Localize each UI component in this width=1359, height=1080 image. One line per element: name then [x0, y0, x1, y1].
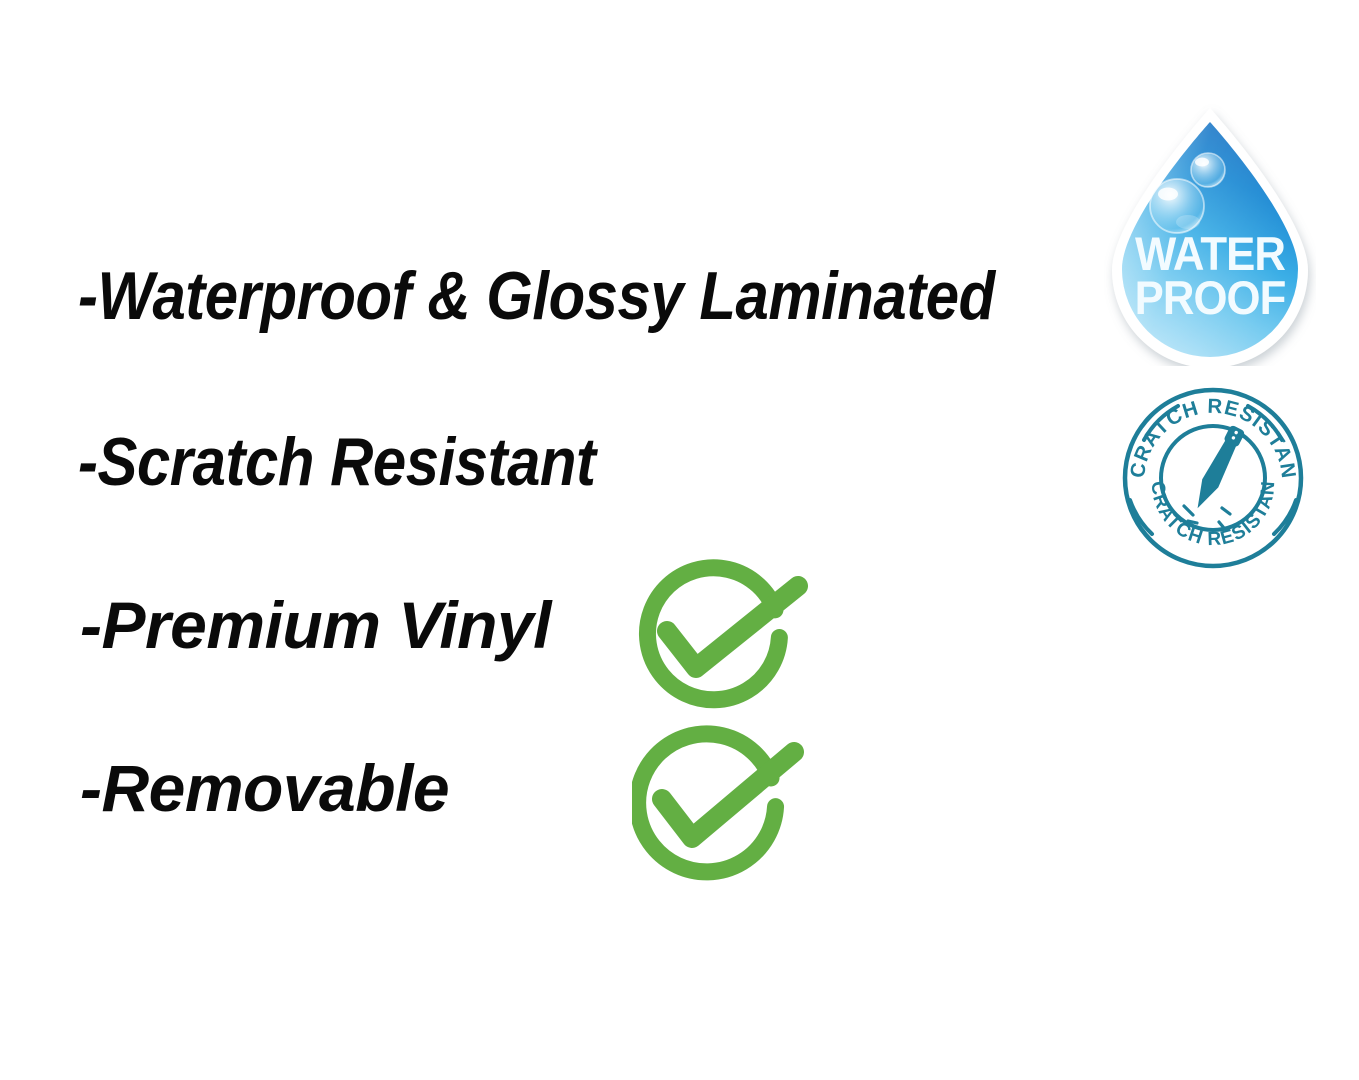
svg-text:SCRATCH RESISTANT: SCRATCH RESISTANT [1118, 382, 1300, 481]
scratch-badge-top-text: SCRATCH RESISTANT [1118, 382, 1300, 481]
knife-icon [1190, 424, 1247, 512]
scratch-resistant-stamp-badge: SCRATCH RESISTANT SCRATCH RESISTANT [1118, 382, 1308, 570]
product-feature-graphic: -Waterproof & Glossy Laminated -Scratch … [0, 0, 1359, 1080]
feature-text-scratch-resistant: -Scratch Resistant [78, 428, 596, 496]
feature-text-premium-vinyl: -Premium Vinyl [80, 592, 551, 658]
feature-text-removable: -Removable [80, 755, 449, 821]
check-circle-icon-premium-vinyl [638, 558, 808, 710]
waterproof-droplet-badge: WATER PROOF [1104, 104, 1316, 366]
feature-text-waterproof-glossy-laminated: -Waterproof & Glossy Laminated [78, 262, 995, 330]
check-circle-icon-removable [632, 722, 804, 882]
